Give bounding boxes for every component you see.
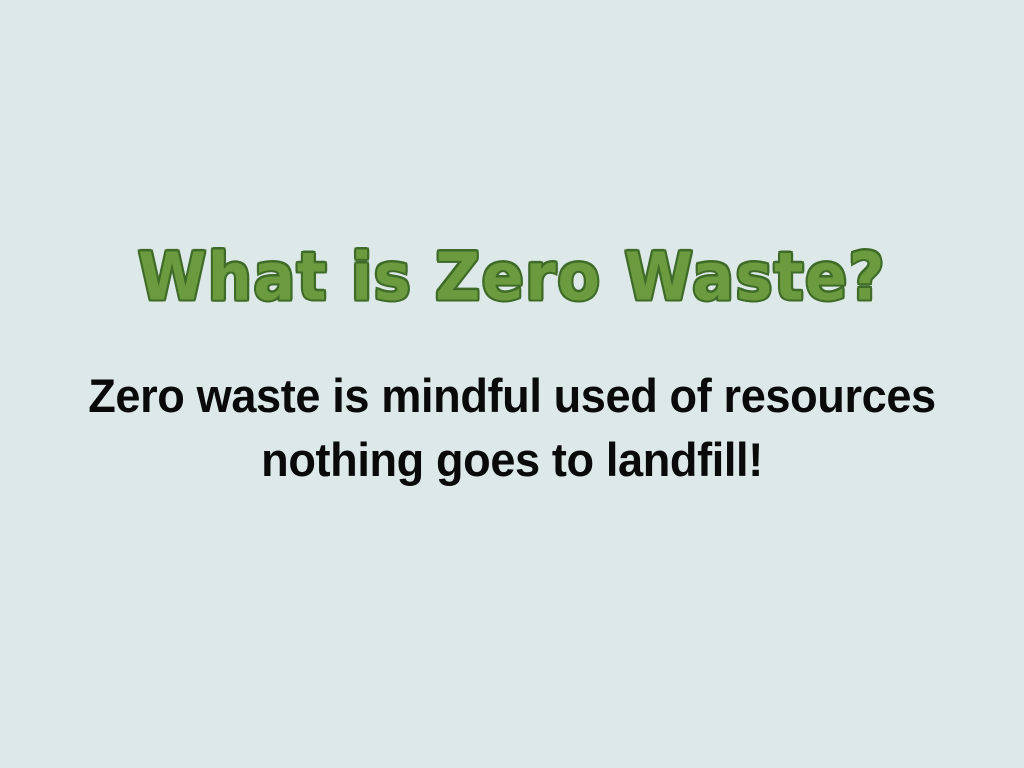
slide-canvas: What is Zero Waste? Zero waste is mindfu… (0, 0, 1024, 768)
title-block: What is Zero Waste? (0, 239, 1024, 315)
body-text-block: Zero waste is mindful used of resources … (0, 364, 1024, 492)
body-line-1: Zero waste is mindful used of resources (20, 364, 1003, 428)
slide-title: What is Zero Waste? (138, 237, 886, 318)
body-line-2: nothing goes to landfill! (20, 428, 1003, 492)
